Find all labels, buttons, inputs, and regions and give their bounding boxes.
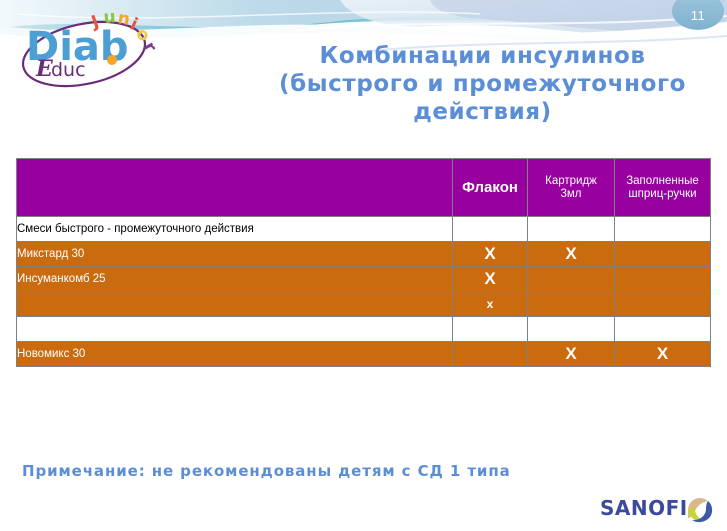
row-label-insuman-comb-25: Инсуманкомб 25 (17, 267, 453, 292)
row-mark-vial: X (453, 267, 528, 292)
row-label-empty-orange (17, 292, 453, 317)
column-header-pens-line2: шприц-ручки (615, 188, 710, 201)
column-header-cartridge-line2: 3мл (528, 188, 614, 201)
row-mark-cartridge (528, 267, 615, 292)
column-header-cartridge-line1: Картридж (528, 175, 614, 188)
row-mark-pen: X (615, 342, 711, 367)
page-number: 11 (676, 0, 720, 30)
svg-text:duc: duc (51, 59, 86, 81)
row-mark-pen (615, 292, 711, 317)
row-mark-pen (615, 217, 711, 242)
title-line-3: действия) (245, 98, 720, 126)
row-mark-cartridge (528, 217, 615, 242)
column-header-prefilled-pens: Заполненные шприц-ручки (615, 159, 711, 217)
footnote: Примечание: не рекомендованы детям с СД … (22, 462, 511, 480)
page-title: Комбинации инсулинов (быстрого и промежу… (245, 42, 720, 126)
row-mark-vial (453, 317, 528, 342)
svg-text:u: u (103, 7, 117, 28)
row-mark-pen (615, 242, 711, 267)
row-mark-cartridge (528, 292, 615, 317)
row-label-empty-white (17, 317, 453, 342)
diabeduc-junior-logo: Diab E duc J u n i o r (12, 2, 172, 102)
table-row (17, 317, 711, 342)
column-header-vial: Флакон (453, 159, 528, 217)
column-header-name (17, 159, 453, 217)
row-mark-pen (615, 267, 711, 292)
row-mark-vial (453, 217, 528, 242)
row-mark-pen (615, 317, 711, 342)
table-header-row: Флакон Картридж 3мл Заполненные шприц-ру… (17, 159, 711, 217)
row-mark-vial: X (453, 242, 528, 267)
column-header-cartridge: Картридж 3мл (528, 159, 615, 217)
table-row: Смеси быстрого - промежуточного действия (17, 217, 711, 242)
row-mark-cartridge: X (528, 342, 615, 367)
column-header-pens-line1: Заполненные (615, 175, 710, 188)
insulin-combinations-table: Флакон Картридж 3мл Заполненные шприц-ру… (16, 158, 711, 367)
table-row: Микстард 30 X X (17, 242, 711, 267)
table-row: x (17, 292, 711, 317)
row-label-mixes-heading: Смеси быстрого - промежуточного действия (17, 217, 453, 242)
sanofi-logo: SANOFI (600, 492, 720, 524)
table-row: Новомикс 30 X X (17, 342, 711, 367)
row-mark-vial (453, 342, 528, 367)
row-mark-vial: x (453, 292, 528, 317)
row-mark-cartridge (528, 317, 615, 342)
row-mark-cartridge: X (528, 242, 615, 267)
table-row: Инсуманкомб 25 X (17, 267, 711, 292)
row-label-novomix-30: Новомикс 30 (17, 342, 453, 367)
svg-text:SANOFI: SANOFI (600, 496, 688, 520)
title-line-1: Комбинации инсулинов (245, 42, 720, 70)
row-label-mixtard-30: Микстард 30 (17, 242, 453, 267)
title-line-2: (быстрого и промежуточного (245, 70, 720, 98)
